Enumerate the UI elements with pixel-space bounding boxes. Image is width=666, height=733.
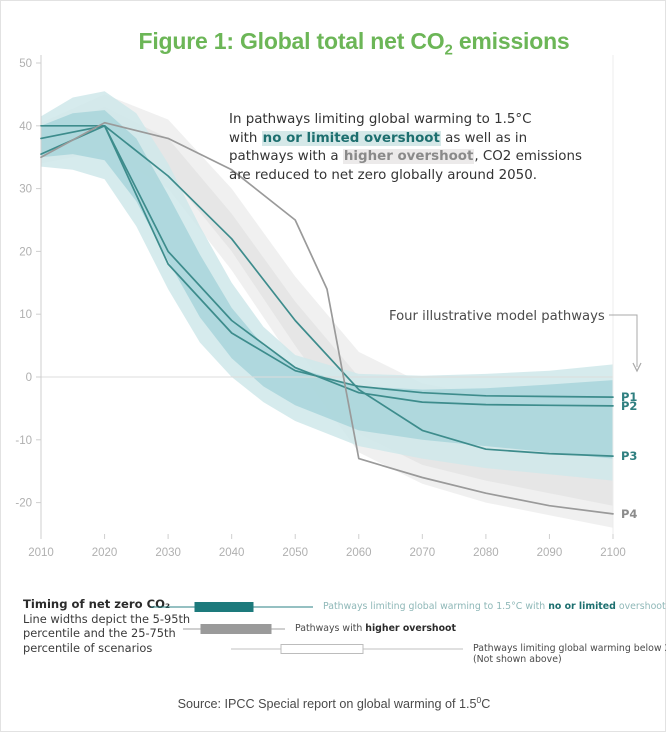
y-axis-tick-label: 20 xyxy=(19,246,32,258)
y-axis-tick-label: 0 xyxy=(26,372,32,384)
y-axis-tick-label: 40 xyxy=(19,121,32,133)
legend-box-below-2c xyxy=(281,645,363,654)
x-axis-tick-label: 2040 xyxy=(219,547,245,559)
x-axis-tick-label: 2060 xyxy=(346,547,372,559)
annotation-line-2-pre: with xyxy=(229,131,262,146)
x-axis-tick-label: 2100 xyxy=(600,547,626,559)
legend-text-pre: Pathways with xyxy=(295,623,365,634)
legend-text-below-2c: Pathways limiting global warming below 2… xyxy=(473,643,666,665)
y-axis-tick-label: 50 xyxy=(19,58,32,70)
x-axis-tick-label: 2050 xyxy=(282,547,308,559)
figure-container: Figure 1: Global total net CO2 emissions… xyxy=(0,0,666,732)
source-note: Source: IPCC Special report on global wa… xyxy=(1,695,666,711)
highlight-no-or-limited-overshoot: no or limited overshoot xyxy=(262,131,441,146)
legend-text-pre: Pathways limiting global warming below 2… xyxy=(473,643,666,654)
x-axis-tick-label: 2010 xyxy=(28,547,54,559)
annotation-line-1: In pathways limiting global warming to 1… xyxy=(229,111,599,130)
x-axis-tick-label: 2080 xyxy=(473,547,499,559)
y-axis-tick-label: 30 xyxy=(19,184,32,196)
annotation-line-3: pathways with a higher overshoot, CO2 em… xyxy=(229,148,599,167)
callout-four-pathways: Four illustrative model pathways xyxy=(389,309,605,324)
legend-box-no-or-limited-overshoot xyxy=(195,603,253,612)
legend-text-higher-overshoot: Pathways with higher overshoot xyxy=(295,623,456,634)
legend: Timing of net zero CO₂ Line widths depic… xyxy=(23,597,651,667)
highlight-higher-overshoot: higher overshoot xyxy=(343,149,475,164)
x-axis-tick-label: 2030 xyxy=(155,547,181,559)
source-note-prefix: Source: IPCC Special report on global wa… xyxy=(178,697,477,711)
legend-box-higher-overshoot xyxy=(201,625,271,634)
legend-text-line2: (Not shown above) xyxy=(473,654,666,665)
annotation-textbox: In pathways limiting global warming to 1… xyxy=(229,111,599,185)
pathway-label-p4: P4 xyxy=(621,507,637,521)
pathway-label-p2: P2 xyxy=(621,399,637,413)
legend-text-bold: higher overshoot xyxy=(365,623,456,634)
legend-text-bold: no or limited xyxy=(548,601,616,612)
legend-text-pre: Pathways limiting global warming to 1.5°… xyxy=(323,601,548,612)
y-axis-tick-label: -20 xyxy=(15,498,32,510)
annotation-line-2-post: as well as in xyxy=(441,131,527,146)
legend-text-no-or-limited-overshoot: Pathways limiting global warming to 1.5°… xyxy=(323,601,666,612)
annotation-line-4: are reduced to net zero globally around … xyxy=(229,167,599,186)
y-axis-tick-label: 10 xyxy=(19,309,32,321)
annotation-line-2: with no or limited overshoot as well as … xyxy=(229,130,599,149)
annotation-line-3-pre: pathways with a xyxy=(229,149,343,164)
x-axis-tick-label: 2070 xyxy=(410,547,436,559)
pathway-label-p3: P3 xyxy=(621,449,637,463)
annotation-line-3-post: , CO2 emissions xyxy=(474,149,582,164)
legend-text-post: overshoot xyxy=(616,601,666,612)
y-axis-tick-label: -10 xyxy=(15,435,32,447)
x-axis-tick-label: 2020 xyxy=(92,547,118,559)
source-note-suffix: C xyxy=(481,697,490,711)
x-axis-tick-label: 2090 xyxy=(537,547,563,559)
